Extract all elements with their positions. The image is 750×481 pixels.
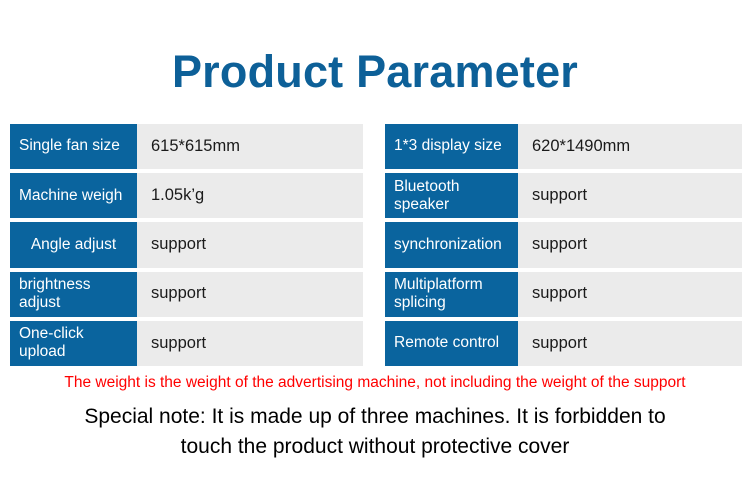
parameter-table-right: 1*3 display size 620*1490mm Bluetooth sp… (385, 124, 742, 366)
parameter-table-left: Single fan size 615*615mm Machine weigh … (10, 124, 363, 366)
parameter-value: support (518, 173, 742, 218)
table-row: Single fan size 615*615mm (10, 124, 363, 169)
special-note-line-1: Special note: It is made up of three mac… (0, 402, 750, 432)
table-row: Bluetooth speaker support (385, 173, 742, 218)
table-row: 1*3 display size 620*1490mm (385, 124, 742, 169)
special-note-line-2: touch the product without protective cov… (0, 432, 750, 462)
special-note: Special note: It is made up of three mac… (0, 402, 750, 462)
parameter-label: 1*3 display size (385, 124, 518, 169)
parameter-label: Angle adjust (10, 222, 137, 267)
parameter-label: synchronization (385, 222, 518, 267)
parameter-label: Multiplatform splicing (385, 272, 518, 317)
parameter-value: 1.05k’g (137, 173, 363, 218)
parameter-value: support (137, 321, 363, 366)
parameter-label: Bluetooth speaker (385, 173, 518, 218)
parameter-value: support (137, 272, 363, 317)
parameter-label: Single fan size (10, 124, 137, 169)
table-row: Machine weigh 1.05k’g (10, 173, 363, 218)
parameter-label: brightness adjust (10, 272, 137, 317)
parameter-value: support (518, 321, 742, 366)
weight-disclaimer-text: The weight is the weight of the advertis… (0, 374, 750, 393)
table-row: Remote control support (385, 321, 742, 366)
page-title: Product Parameter (0, 47, 750, 97)
parameter-value: support (137, 222, 363, 267)
table-row: synchronization support (385, 222, 742, 267)
parameter-value: 615*615mm (137, 124, 363, 169)
parameter-label: Machine weigh (10, 173, 137, 218)
table-row: One-click upload support (10, 321, 363, 366)
table-row: Multiplatform splicing support (385, 272, 742, 317)
table-row: Angle adjust support (10, 222, 363, 267)
product-parameter-page: Product Parameter Single fan size 615*61… (0, 0, 750, 481)
table-row: brightness adjust support (10, 272, 363, 317)
parameter-value: support (518, 222, 742, 267)
parameter-label: One-click upload (10, 321, 137, 366)
parameter-value: 620*1490mm (518, 124, 742, 169)
parameter-label: Remote control (385, 321, 518, 366)
parameter-tables: Single fan size 615*615mm Machine weigh … (0, 124, 750, 366)
parameter-value: support (518, 272, 742, 317)
